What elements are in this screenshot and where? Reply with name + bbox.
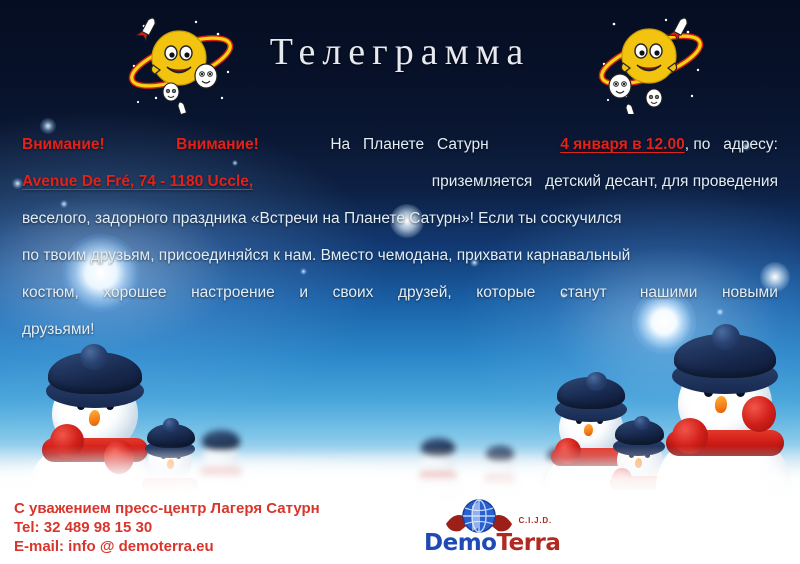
footer-email[interactable]: E-mail: info @ demoterra.eu [14,537,320,556]
line5-w5: друзей, [398,274,452,311]
alert-word-1: Внимание! [22,126,105,163]
line5-w2: настроение [191,274,275,311]
line2-rest: приземляется детский десант, для проведе… [432,163,778,200]
announcement-line-2: Avenue De Fré, 74 - 1180 Uccle, приземля… [22,163,778,200]
announcement-line-1: Внимание! Внимание! На Планете Сатурн 4 … [22,126,778,163]
line5-w1: хорошее [103,274,166,311]
line5-w3: и [299,274,308,311]
announcement-body: Внимание! Внимание! На Планете Сатурн 4 … [22,126,778,348]
line5-w8: нашими [631,274,697,311]
wordmark-terra: Terra [496,530,560,556]
footer-signature: С уважением пресс-центр Лагеря Сатурн [14,499,320,518]
line5-w6: которые [476,274,535,311]
event-address: Avenue De Fré, 74 - 1180 Uccle, [22,163,253,200]
demoterra-wordmark: DemoTerra [424,530,560,556]
line5-w7: станут [560,274,607,311]
alert-word-2: Внимание! [176,126,259,163]
demoterra-logo[interactable]: C.I.J.D. DemoTerra [424,498,554,556]
poster-header: Телеграмма [0,0,800,122]
cijd-label: C.I.J.D. [518,516,552,525]
announcement-line-3: веселого, задорного праздника «Встречи н… [22,200,778,237]
announcement-line-4: по твоим друзьям, присоединяйся к нам. В… [22,237,778,274]
line1-tail: , по адресу: [685,136,778,153]
line5-w9: новыми [722,274,778,311]
footer-contact-block: С уважением пресс-центр Лагеря Сатурн Te… [14,499,320,556]
event-datetime: 4 января в 12.00, по адресу: [560,126,778,163]
footer-phone[interactable]: Tel: 32 489 98 15 30 [14,518,320,537]
line5-w0: костюм, [22,274,79,311]
telegram-poster: Телеграмма [0,0,800,564]
line1-middle: На Планете Сатурн [330,126,488,163]
wordmark-demo: Demo [424,530,496,556]
saturn-mascot-right-icon [592,8,710,114]
announcement-line-5: костюм, хорошее настроение и своих друзе… [22,274,778,311]
line5-w4: своих [333,274,374,311]
